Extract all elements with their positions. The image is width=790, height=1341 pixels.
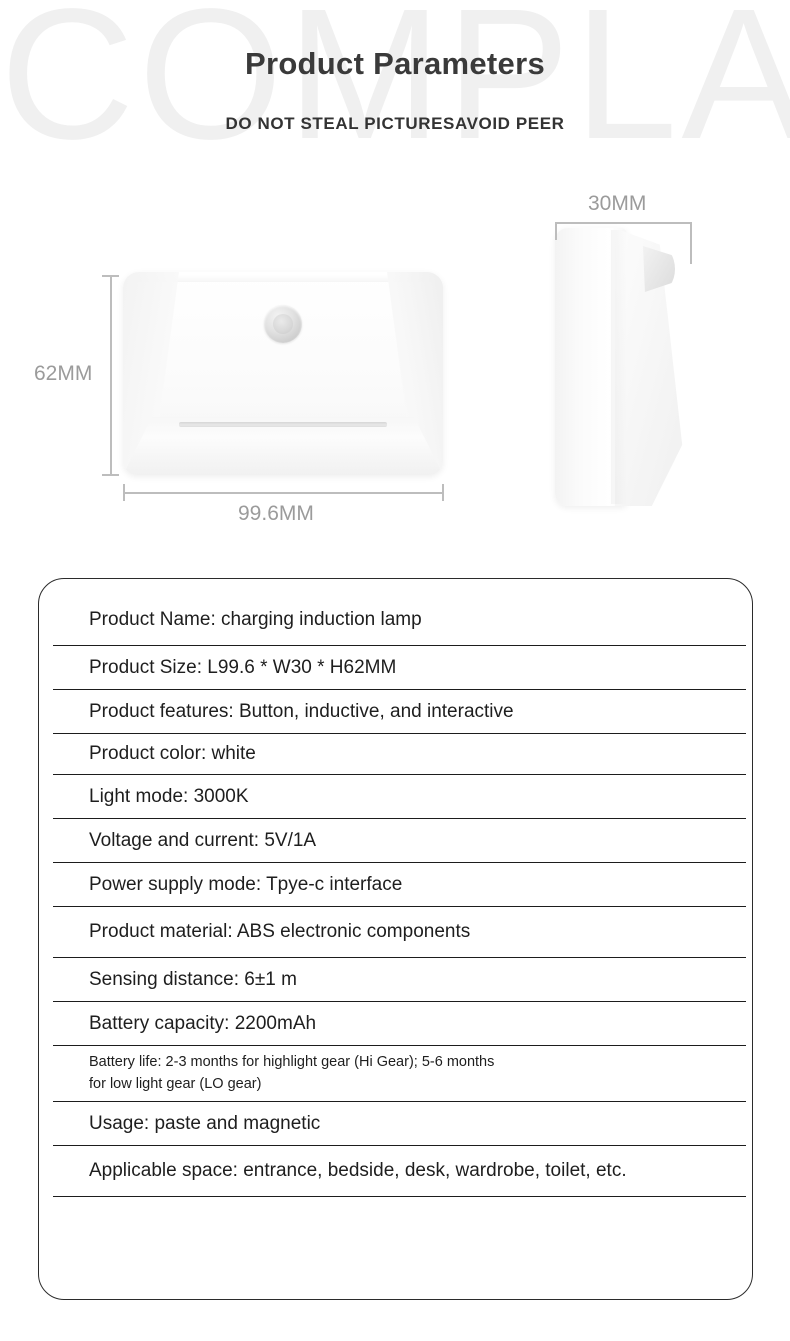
side-width-tick-right (690, 222, 692, 264)
page-title: Product Parameters (0, 0, 790, 82)
spec-row-text: Power supply mode: Tpye-c interface (89, 872, 402, 898)
product-front-view-image (123, 272, 443, 475)
page-header: Product Parameters DO NOT STEAL PICTURES… (0, 0, 790, 134)
product-figures: 62MM 99.6MM 30MM (0, 180, 790, 550)
spec-row-product-features: Product features: Button, inductive, and… (53, 690, 746, 734)
side-width-tick-left (555, 222, 557, 240)
spec-row-product-material: Product material: ABS electronic compone… (53, 907, 746, 958)
spec-row-battery-capacity: Battery capacity: 2200mAh (53, 1002, 746, 1046)
side-width-dimension-line (555, 222, 692, 224)
spec-row-text: Product material: ABS electronic compone… (89, 919, 470, 945)
front-width-tick-left (123, 484, 125, 501)
front-height-tick-bottom (102, 474, 119, 476)
lamp-side-edge-shading (611, 230, 627, 504)
specifications-list: Product Name: charging induction lamp Pr… (53, 595, 746, 1197)
spec-row-text: Product color: white (89, 741, 256, 767)
spec-row-text: Product features: Button, inductive, and… (89, 699, 514, 725)
front-height-label: 62MM (34, 362, 92, 386)
spec-row-battery-life: Battery life: 2-3 months for highlight g… (53, 1046, 746, 1102)
front-width-label: 99.6MM (238, 502, 314, 526)
led-light-strip (179, 422, 387, 427)
spec-row-product-size: Product Size: L99.6 * W30 * H62MM (53, 646, 746, 690)
spec-row-light-mode: Light mode: 3000K (53, 775, 746, 819)
spec-row-power-supply-mode: Power supply mode: Tpye-c interface (53, 863, 746, 907)
spec-row-text: Battery life: 2-3 months for highlight g… (89, 1052, 494, 1094)
specifications-card: Product Name: charging induction lamp Pr… (38, 578, 753, 1300)
spec-row-text: Product Name: charging induction lamp (89, 607, 422, 633)
front-height-tick-top (102, 275, 119, 277)
spec-row-text: Battery capacity: 2200mAh (89, 1011, 316, 1037)
spec-row-product-color: Product color: white (53, 734, 746, 775)
spec-row-text: Sensing distance: 6±1 m (89, 967, 297, 993)
spec-row-text: Applicable space: entrance, bedside, des… (89, 1158, 627, 1184)
spec-row-text: Light mode: 3000K (89, 784, 249, 810)
pir-sensor-bump-icon (643, 246, 675, 292)
spec-row-product-name: Product Name: charging induction lamp (53, 595, 746, 646)
side-width-label: 30MM (588, 192, 646, 216)
spec-row-sensing-distance: Sensing distance: 6±1 m (53, 958, 746, 1002)
front-width-dimension-line (123, 492, 443, 494)
lamp-front-body (123, 272, 443, 475)
spec-row-applicable-space: Applicable space: entrance, bedside, des… (53, 1146, 746, 1197)
front-width-tick-right (442, 484, 444, 501)
front-height-dimension-line (110, 275, 112, 475)
spec-row-text: Product Size: L99.6 * W30 * H62MM (89, 655, 396, 681)
page-subtitle: DO NOT STEAL PICTURESAVOID PEER (0, 82, 790, 134)
spec-row-usage: Usage: paste and magnetic (53, 1102, 746, 1146)
spec-row-voltage-current: Voltage and current: 5V/1A (53, 819, 746, 863)
product-side-view-image (555, 228, 695, 506)
spec-row-text: Usage: paste and magnetic (89, 1111, 320, 1137)
pir-sensor-icon (264, 305, 302, 343)
spec-row-text: Voltage and current: 5V/1A (89, 828, 316, 854)
